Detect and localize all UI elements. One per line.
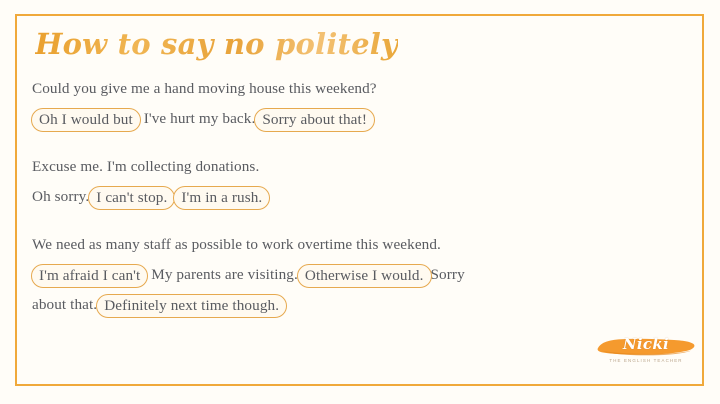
reply-text-3c: Sorry	[431, 266, 465, 283]
prompt-line-3: We need as many staff as possible to wor…	[32, 230, 672, 260]
example-block-2: Excuse me. I'm collecting donations. Oh …	[32, 152, 672, 212]
slide-canvas: How to say no politely Could you give me…	[0, 0, 720, 404]
brand-logo: Nicki THE ENGLISH TEACHER	[596, 334, 696, 378]
reply-text-3d: about that.	[32, 296, 97, 313]
reply-text-3b: My parents are visiting.	[151, 266, 298, 283]
example-block-3: We need as many staff as possible to wor…	[32, 230, 672, 320]
lesson-content: Could you give me a hand moving house th…	[32, 74, 672, 320]
annotation-pill-2b: I'm in a rush.	[173, 186, 270, 210]
annotation-pill-1b: Sorry about that!	[254, 108, 375, 132]
reply-text-2a: Oh sorry.	[32, 188, 89, 205]
annotation-pill-1a: Oh I would but	[31, 108, 141, 132]
reply-line-2: Oh sorry.I can't stop.I'm in a rush.	[32, 182, 672, 212]
reply-line-3a: I'm afraid I can't My parents are visiti…	[32, 260, 672, 290]
prompt-line-2: Excuse me. I'm collecting donations.	[32, 152, 672, 182]
annotation-pill-3a: I'm afraid I can't	[31, 264, 148, 288]
reply-line-1: Oh I would but I've hurt my back.Sorry a…	[32, 104, 672, 134]
reply-line-3b: about that.Definitely next time though.	[32, 290, 672, 320]
logo-tagline: THE ENGLISH TEACHER	[596, 358, 696, 363]
prompt-line-1: Could you give me a hand moving house th…	[32, 74, 672, 104]
prompt-text-3: We need as many staff as possible to wor…	[32, 236, 441, 253]
prompt-text-2: Excuse me. I'm collecting donations.	[32, 158, 259, 175]
page-title: How to say no politely	[35, 27, 398, 61]
annotation-pill-3c: Definitely next time though.	[96, 294, 287, 318]
reply-text-1b: I've hurt my back.	[144, 110, 256, 127]
prompt-text-1: Could you give me a hand moving house th…	[32, 80, 377, 97]
logo-name: Nicki	[596, 335, 696, 353]
example-block-1: Could you give me a hand moving house th…	[32, 74, 672, 134]
annotation-pill-2a: I can't stop.	[88, 186, 175, 210]
annotation-pill-3b: Otherwise I would.	[297, 264, 432, 288]
